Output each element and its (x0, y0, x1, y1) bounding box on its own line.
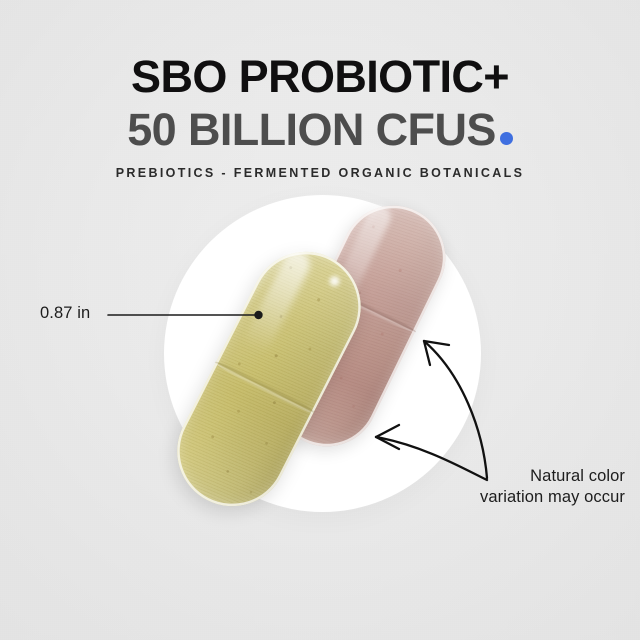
accent-dot-icon (500, 132, 513, 145)
headline-block: SBO PROBIOTIC+ 50 BILLION CFUS PREBIOTIC… (0, 52, 640, 181)
headline-subtitle: PREBIOTICS - FERMENTED ORGANIC BOTANICAL… (0, 166, 640, 181)
color-variation-note-line-1: Natural color (415, 466, 625, 487)
dimension-label: 0.87 in (40, 303, 90, 323)
headline-line-1: SBO PROBIOTIC+ (0, 52, 640, 102)
color-variation-note-line-2: variation may occur (415, 487, 625, 508)
headline-line-2: 50 BILLION CFUS (0, 105, 640, 155)
product-image-canvas: SBO PROBIOTIC+ 50 BILLION CFUS PREBIOTIC… (0, 0, 640, 640)
headline-line-2-text: 50 BILLION CFUS (127, 104, 496, 155)
color-variation-note: Natural color variation may occur (415, 466, 625, 508)
